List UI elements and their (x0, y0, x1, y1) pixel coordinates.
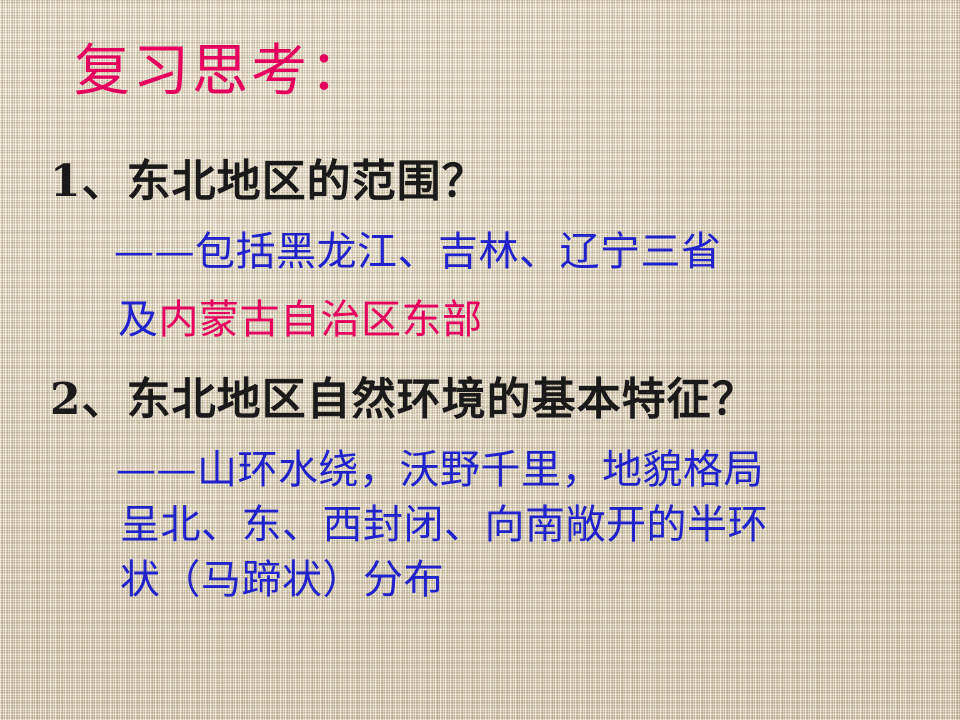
answer-text-blue: 呈北、东、西封闭、向南敞开的半环 (120, 502, 768, 548)
question-2-answer-line-1: ——山环水绕，沃野千里，地貌格局 (116, 450, 764, 490)
question-2-text: 东北地区自然环境的基本特征？ (127, 374, 757, 425)
page-title: 复习思考： (74, 44, 369, 100)
question-2-heading: 2、东北地区自然环境的基本特征？ (50, 378, 757, 422)
question-1-text: 东北地区的范围？ (127, 156, 487, 207)
question-1-answer-line-1: ——包括黑龙江、吉林、辽宁三省 (114, 232, 722, 272)
answer-text-blue: 状（马蹄状）分布 (120, 557, 444, 603)
answer-text-blue: 山环水绕，沃野千里，地貌格局 (197, 447, 764, 493)
question-2-answer-line-2: 呈北、东、西封闭、向南敞开的半环 (120, 505, 768, 545)
answer-text-crimson: 内蒙古自治区东部 (159, 297, 483, 343)
question-1-number: 1、 (50, 156, 127, 207)
answer-dash: —— (116, 447, 197, 493)
question-2-answer-line-3: 状（马蹄状）分布 (120, 560, 444, 600)
answer-text-blue: 包括黑龙江、吉林、辽宁三省 (195, 229, 722, 275)
slide-canvas: 复习思考： 1、东北地区的范围？ ——包括黑龙江、吉林、辽宁三省 及内蒙古自治区… (0, 0, 960, 720)
answer-text-blue: 及 (118, 297, 159, 343)
answer-dash: —— (114, 229, 195, 275)
question-2-number: 2、 (50, 374, 127, 425)
question-1-answer-line-2: 及内蒙古自治区东部 (118, 300, 483, 340)
question-1-heading: 1、东北地区的范围？ (50, 160, 487, 204)
